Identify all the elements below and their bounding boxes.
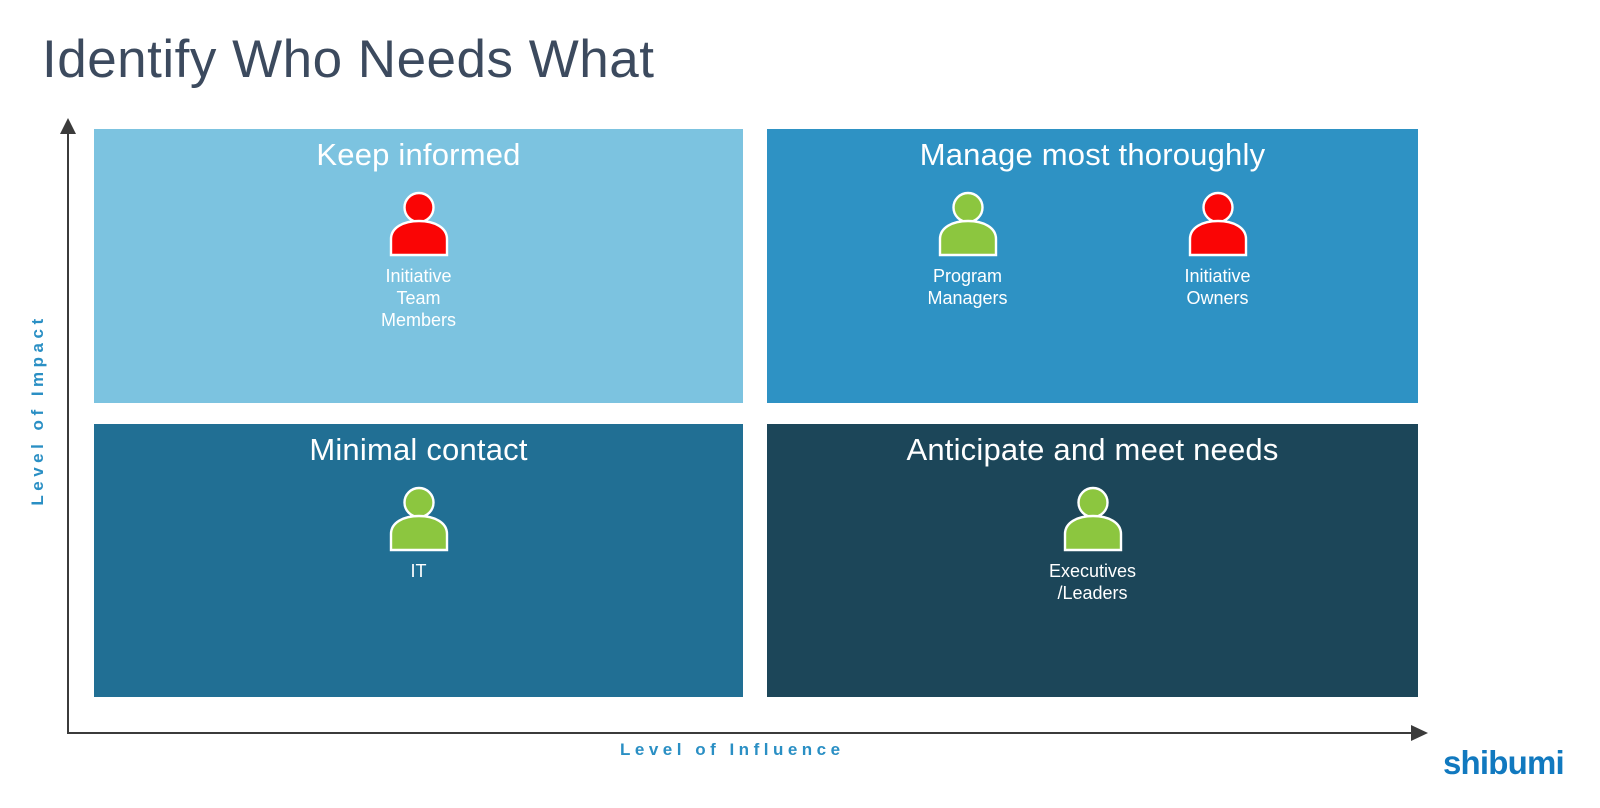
persona-program-managers[interactable]: Program Managers <box>893 191 1043 310</box>
quadrant-heading: Minimal contact <box>94 432 743 468</box>
person-icon <box>387 486 451 552</box>
y-axis-line <box>67 132 69 734</box>
persona-executives-leaders[interactable]: Executives /Leaders <box>1018 486 1168 605</box>
persona-it[interactable]: IT <box>344 486 494 583</box>
persona-label: Program Managers <box>927 266 1007 310</box>
quadrant-heading: Keep informed <box>94 137 743 173</box>
persona-initiative-team-members[interactable]: Initiative Team Members <box>344 191 494 332</box>
quadrant-heading: Anticipate and meet needs <box>767 432 1418 468</box>
persona-label: Initiative Owners <box>1184 266 1250 310</box>
person-icon <box>936 191 1000 257</box>
persona-row: IT <box>94 486 743 583</box>
persona-label: Initiative Team Members <box>381 266 456 332</box>
persona-label: Executives /Leaders <box>1049 561 1136 605</box>
x-axis-arrow-icon <box>1411 725 1428 741</box>
persona-label: IT <box>411 561 427 583</box>
x-axis-line <box>67 732 1415 734</box>
person-icon <box>387 191 451 257</box>
quadrant-minimal-contact[interactable]: Minimal contact IT <box>94 424 743 697</box>
page-title: Identify Who Needs What <box>42 30 654 91</box>
y-axis-label: Level of Impact <box>28 310 48 510</box>
person-icon <box>1061 486 1125 552</box>
person-icon <box>1186 191 1250 257</box>
quadrant-heading: Manage most thoroughly <box>767 137 1418 173</box>
shibumi-logo: shibumi <box>1443 744 1564 782</box>
persona-row: Initiative Team Members <box>94 191 743 332</box>
quadrant-anticipate-and-meet-needs[interactable]: Anticipate and meet needs Executives /Le… <box>767 424 1418 697</box>
persona-initiative-owners[interactable]: Initiative Owners <box>1143 191 1293 310</box>
quadrant-manage-most-thoroughly[interactable]: Manage most thoroughly Program Managers … <box>767 129 1418 403</box>
x-axis-label: Level of Influence <box>620 740 845 760</box>
quadrant-keep-informed[interactable]: Keep informed Initiative Team Members <box>94 129 743 403</box>
persona-row: Executives /Leaders <box>767 486 1418 605</box>
persona-row: Program Managers Initiative Owners <box>767 191 1418 310</box>
y-axis-arrow-icon <box>60 118 76 134</box>
